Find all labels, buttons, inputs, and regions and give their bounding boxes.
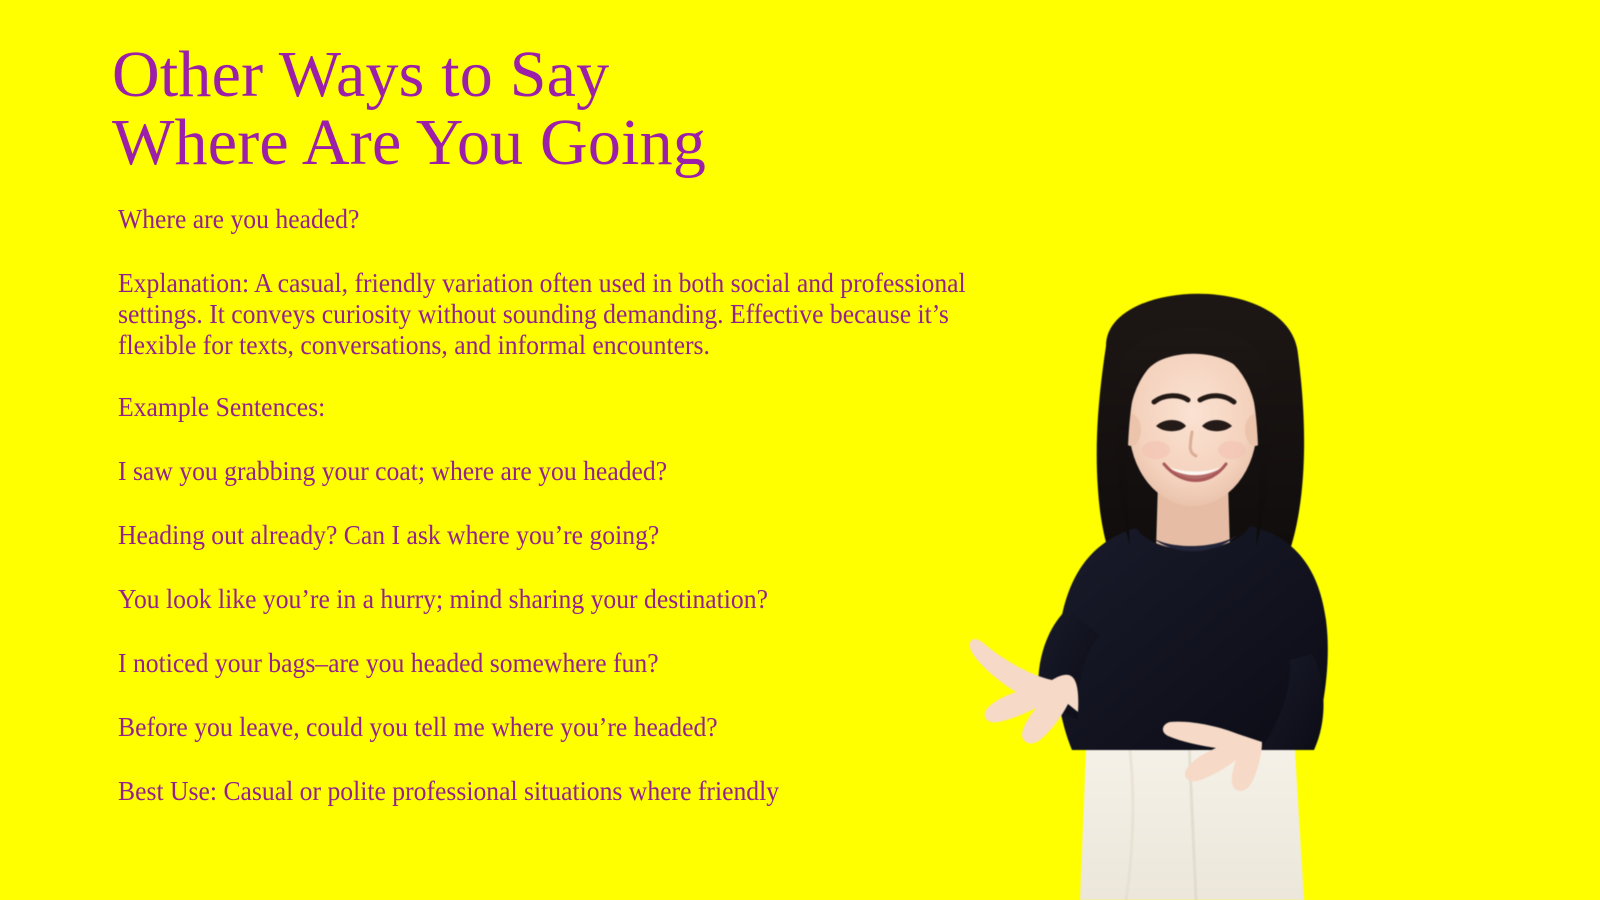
page-title: Other Ways to Say Where Are You Going [112,42,972,176]
example-sentence: You look like you’re in a hurry; mind sh… [118,584,983,615]
phrase-heading: Where are you headed? [118,204,983,235]
example-sentence: I saw you grabbing your coat; where are … [118,456,983,487]
example-sentence: I noticed your bags–are you headed somew… [118,648,983,679]
belt-shape [1088,682,1294,710]
example-sentence: Before you leave, could you tell me wher… [118,712,983,743]
woman-pointing-icon [960,250,1430,900]
sweater-shape [1057,526,1328,750]
slide-canvas: Other Ways to Say Where Are You Going Wh… [0,0,1600,900]
left-sleeve-shape [1038,608,1100,720]
right-sleeve-shape [1260,654,1324,750]
face-shape [1129,346,1257,506]
woman-pointing-photo [960,250,1430,900]
body-content: Where are you headed? Explanation: A cas… [118,204,1028,807]
title-line-1: Other Ways to Say [112,42,972,108]
right-pointing-hand [1163,722,1262,791]
explanation-paragraph: Explanation: A casual, friendly variatio… [118,268,983,361]
hair-side-shape [1116,327,1271,546]
best-use-paragraph: Best Use: Casual or polite professional … [118,776,983,807]
examples-heading: Example Sentences: [118,392,983,423]
trousers-shape [1080,702,1304,900]
hair-front-shape [1126,344,1262,402]
title-line-2: Where Are You Going [112,110,972,176]
example-sentence: Heading out already? Can I ask where you… [118,520,983,551]
hair-back-shape [1097,294,1304,602]
